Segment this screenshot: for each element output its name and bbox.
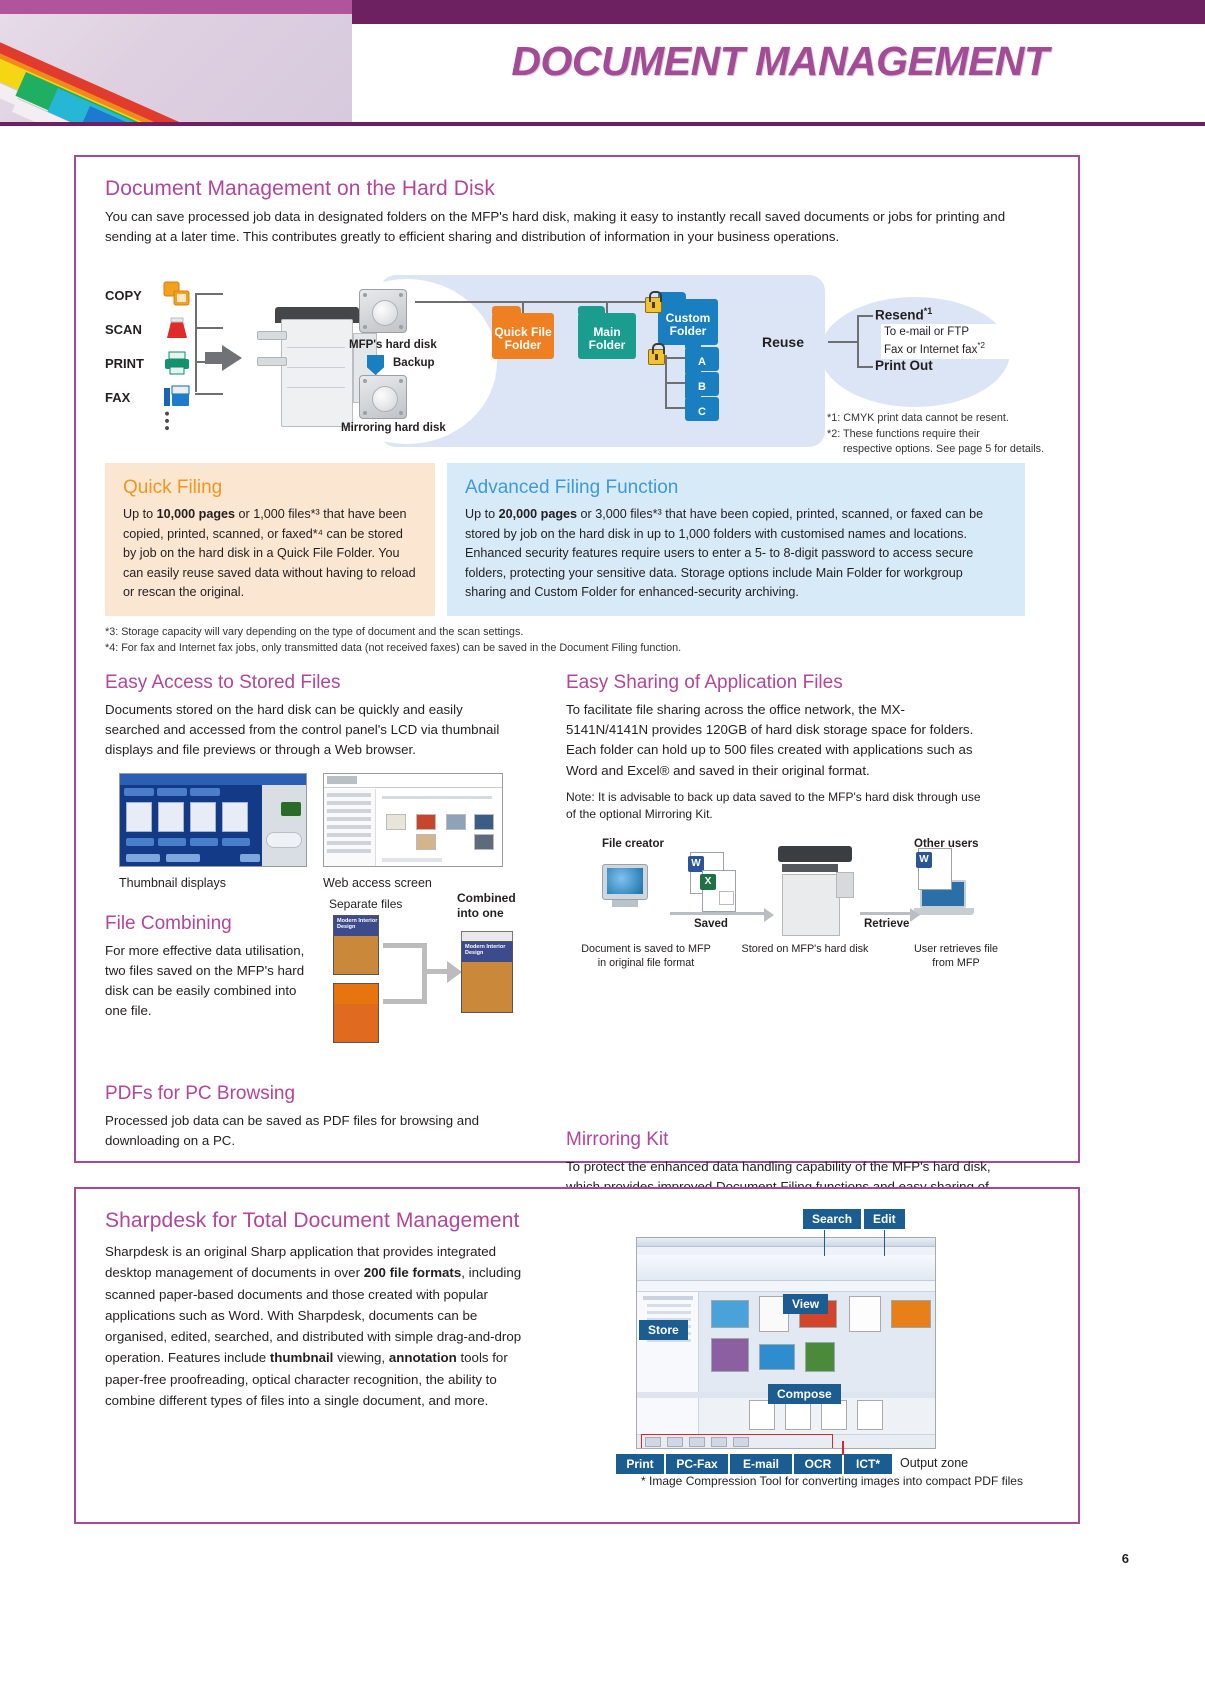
file-combining-paragraph: For more effective data utilisation, two…	[105, 941, 320, 1022]
diagram-notes: *1: CMYK print data cannot be resent. *2…	[827, 411, 1052, 458]
subfolder-line-c	[665, 407, 685, 409]
source-line-scan	[195, 327, 223, 329]
source-label-copy: COPY	[105, 288, 142, 303]
intro-paragraph: You can save processed job data in desig…	[105, 207, 1025, 247]
tag-compose[interactable]: Compose	[768, 1384, 841, 1404]
flow-label-saved: Saved	[694, 918, 728, 930]
reuse-connector	[828, 341, 858, 343]
header-rule	[0, 122, 1205, 126]
mfp-device-icon	[776, 846, 854, 938]
mfp-hard-disk-icon	[359, 289, 407, 333]
sharpdesk-screenshot	[636, 1237, 936, 1449]
page-number: 6	[1122, 1551, 1129, 1566]
flow-caption-saved-to-mfp: Document is saved to MFP in original fil…	[576, 942, 716, 971]
resend-label: Resend*1	[875, 306, 932, 323]
mirroring-hard-disk-icon	[359, 375, 407, 419]
reuse-branch-print	[857, 366, 873, 368]
easy-sharing-paragraph: To facilitate file sharing across the of…	[566, 700, 986, 781]
ellipsis-icon: •••	[158, 411, 175, 433]
tag-store[interactable]: Store	[639, 1320, 688, 1340]
filing-footnotes: *3: Storage capacity will vary depending…	[105, 625, 1025, 656]
easy-access-heading: Easy Access to Stored Files	[105, 672, 535, 694]
subfolder-bus-line	[665, 355, 667, 407]
footnote-3: *3: Storage capacity will vary depending…	[105, 625, 1025, 641]
left-column: Easy Access to Stored Files Documents st…	[105, 672, 535, 1151]
tag-leader-search	[824, 1230, 825, 1256]
pdfs-paragraph: Processed job data can be saved as PDF f…	[105, 1111, 515, 1151]
printout-label: Print Out	[875, 358, 933, 373]
easy-sharing-heading: Easy Sharing of Application Files	[566, 672, 1026, 694]
thumbnail-display-screenshot	[119, 773, 307, 867]
caption-thumbnail-displays: Thumbnail displays	[119, 876, 226, 890]
tag-leader-edit	[884, 1230, 885, 1256]
output-button-email[interactable]: E-mail	[730, 1454, 792, 1474]
output-button-ocr[interactable]: OCR	[794, 1454, 842, 1474]
print-icon	[163, 350, 190, 375]
output-button-ict[interactable]: ICT*	[844, 1454, 892, 1474]
source-label-scan: SCAN	[105, 322, 142, 337]
label-combined-into-one: Combined into one	[457, 891, 516, 921]
file-sharing-flow-graphic: File creator Other users W X	[566, 838, 1026, 973]
backup-label: Backup	[393, 357, 435, 369]
advanced-filing-box: Advanced Filing Function Up to 20,000 pa…	[447, 463, 1025, 616]
mirroring-kit-heading: Mirroring Kit	[566, 1129, 1026, 1151]
lock-icon-custom-folder	[645, 297, 662, 313]
subfolder-line-a	[665, 357, 685, 359]
folder-custom: Custom Folder	[658, 299, 718, 345]
tag-view[interactable]: View	[783, 1294, 828, 1314]
hard-disk-flow-diagram: COPY SCAN PRINT	[105, 267, 1050, 452]
reuse-branch-resend	[857, 315, 873, 317]
section-heading-document-management: Document Management on the Hard Disk	[105, 177, 495, 201]
tag-search[interactable]: Search	[803, 1209, 861, 1229]
flow-label-file-creator: File creator	[602, 838, 664, 850]
header-purple-bar	[352, 0, 1205, 24]
flow-caption-retrieve: User retrieves file from MFP	[896, 942, 1016, 971]
mfp-hard-disk-label: MFP's hard disk	[349, 339, 437, 351]
folder-main: Main Folder	[578, 313, 636, 359]
quick-filing-heading: Quick Filing	[123, 477, 417, 499]
source-bus-line	[195, 293, 197, 392]
page-header: J L M N DOCUMENT MANAGEMENT	[0, 0, 1205, 131]
flow-arrow-head	[222, 345, 242, 371]
scan-icon	[163, 316, 190, 341]
separate-file-2	[333, 983, 379, 1043]
source-label-print: PRINT	[105, 356, 144, 371]
output-button-pc-fax[interactable]: PC-Fax	[666, 1454, 728, 1474]
caption-web-access: Web access screen	[323, 876, 432, 890]
page-title: DOCUMENT MANAGEMENT	[360, 38, 1200, 85]
easy-access-paragraph: Documents stored on the hard disk can be…	[105, 700, 515, 761]
advanced-filing-heading: Advanced Filing Function	[465, 477, 1007, 499]
reuse-badge: Reuse	[738, 321, 828, 363]
easy-sharing-note: Note: It is advisable to back up data sa…	[566, 789, 986, 824]
source-line-fax	[195, 393, 223, 395]
label-separate-files: Separate files	[329, 897, 402, 911]
pdfs-heading: PDFs for PC Browsing	[105, 1083, 535, 1105]
separate-file-1: Modern Interior Design	[333, 915, 379, 975]
flow-caption-stored: Stored on MFP's hard disk	[724, 942, 886, 957]
source-line-copy	[195, 293, 223, 295]
fax-icon	[163, 384, 190, 409]
excel-document-icon: X	[702, 870, 736, 912]
tag-edit[interactable]: Edit	[864, 1209, 905, 1229]
web-access-screenshot	[323, 773, 503, 867]
file-combining-graphic: Separate files Modern Interior Design Co…	[327, 913, 532, 1048]
output-zone-leader	[842, 1441, 844, 1455]
reuse-branch-line	[857, 315, 859, 367]
source-label-fax: FAX	[105, 390, 130, 405]
advanced-filing-text: Up to 20,000 pages or 3,000 files*³ that…	[465, 505, 1007, 603]
sharpdesk-heading: Sharpdesk for Total Document Management	[105, 1209, 519, 1233]
mirroring-hard-disk-label: Mirroring hard disk	[341, 422, 446, 434]
main-content-panel: Document Management on the Hard Disk You…	[74, 155, 1080, 1163]
copy-icon	[163, 281, 190, 306]
desktop-pc-icon	[600, 864, 656, 912]
brochure-page: J L M N DOCUMENT MANAGEMENT Document Man…	[0, 0, 1205, 1704]
retrieved-word-doc-icon: W	[918, 848, 952, 890]
subfolder-line-b	[665, 382, 685, 384]
sharpdesk-paragraph: Sharpdesk is an original Sharp applicati…	[105, 1241, 537, 1411]
output-zone-label: Output zone	[900, 1456, 968, 1470]
footnote-4: *4: For fax and Internet fax jobs, only …	[105, 641, 1025, 657]
flow-label-retrieve: Retrieve	[864, 918, 909, 930]
quick-filing-box: Quick Filing Up to 10,000 pages or 1,000…	[105, 463, 435, 616]
folder-tabs-photo: J L M N	[0, 14, 352, 126]
output-button-print[interactable]: Print	[616, 1454, 664, 1474]
quick-filing-text: Up to 10,000 pages or 1,000 files*³ that…	[123, 505, 417, 603]
right-column: Easy Sharing of Application Files To fac…	[566, 672, 1026, 1067]
subfolder-c: C	[685, 397, 719, 421]
combined-file: Modern Interior Design	[461, 941, 513, 1013]
lock-icon-subfolders	[648, 349, 665, 365]
folder-quick-file: Quick File Folder	[492, 313, 554, 359]
sharpdesk-note: * Image Compression Tool for converting …	[641, 1474, 1023, 1488]
resend-detail: To e-mail or FTP Fax or Internet fax*2	[881, 324, 1041, 359]
sharpdesk-panel: Sharpdesk for Total Document Management …	[74, 1187, 1080, 1524]
